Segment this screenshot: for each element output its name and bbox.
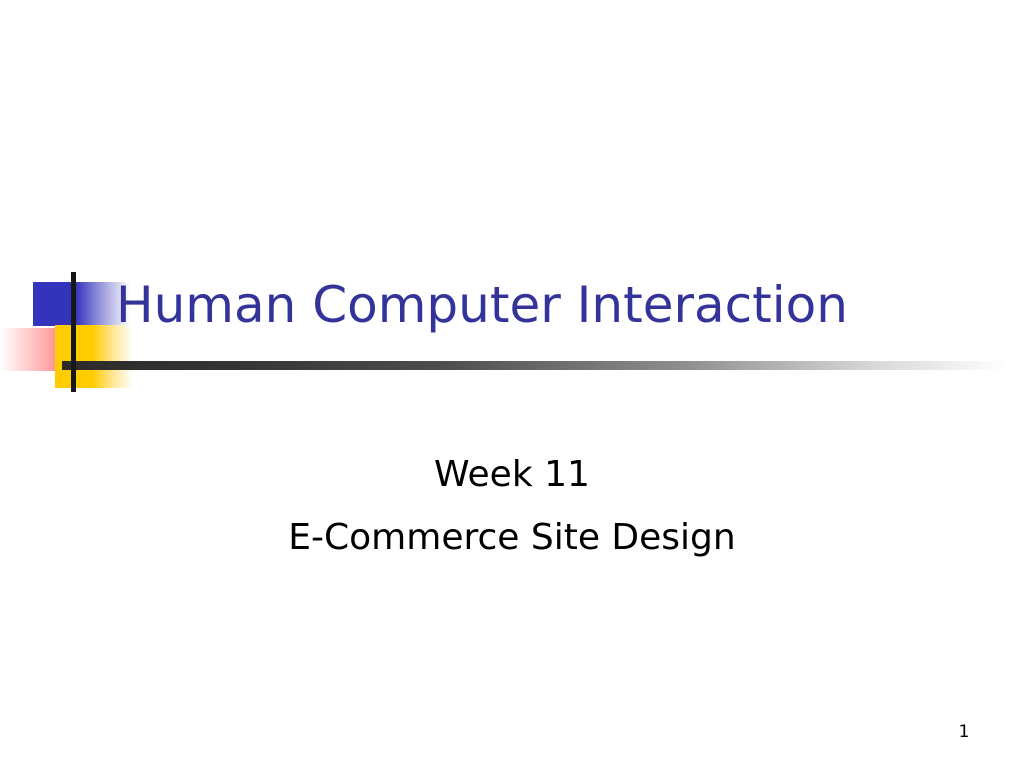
vertical-rule-decoration [71, 272, 76, 392]
subtitle-line-week: Week 11 [112, 443, 912, 506]
slide-title: Human Computer Interaction [116, 275, 996, 335]
presentation-slide: Human Computer Interaction Week 11 E-Com… [0, 0, 1024, 768]
horizontal-rule-decoration [62, 361, 1007, 370]
slide-number: 1 [940, 722, 988, 742]
slide-subtitle: Week 11 E-Commerce Site Design [112, 443, 912, 569]
subtitle-line-topic: E-Commerce Site Design [112, 506, 912, 569]
